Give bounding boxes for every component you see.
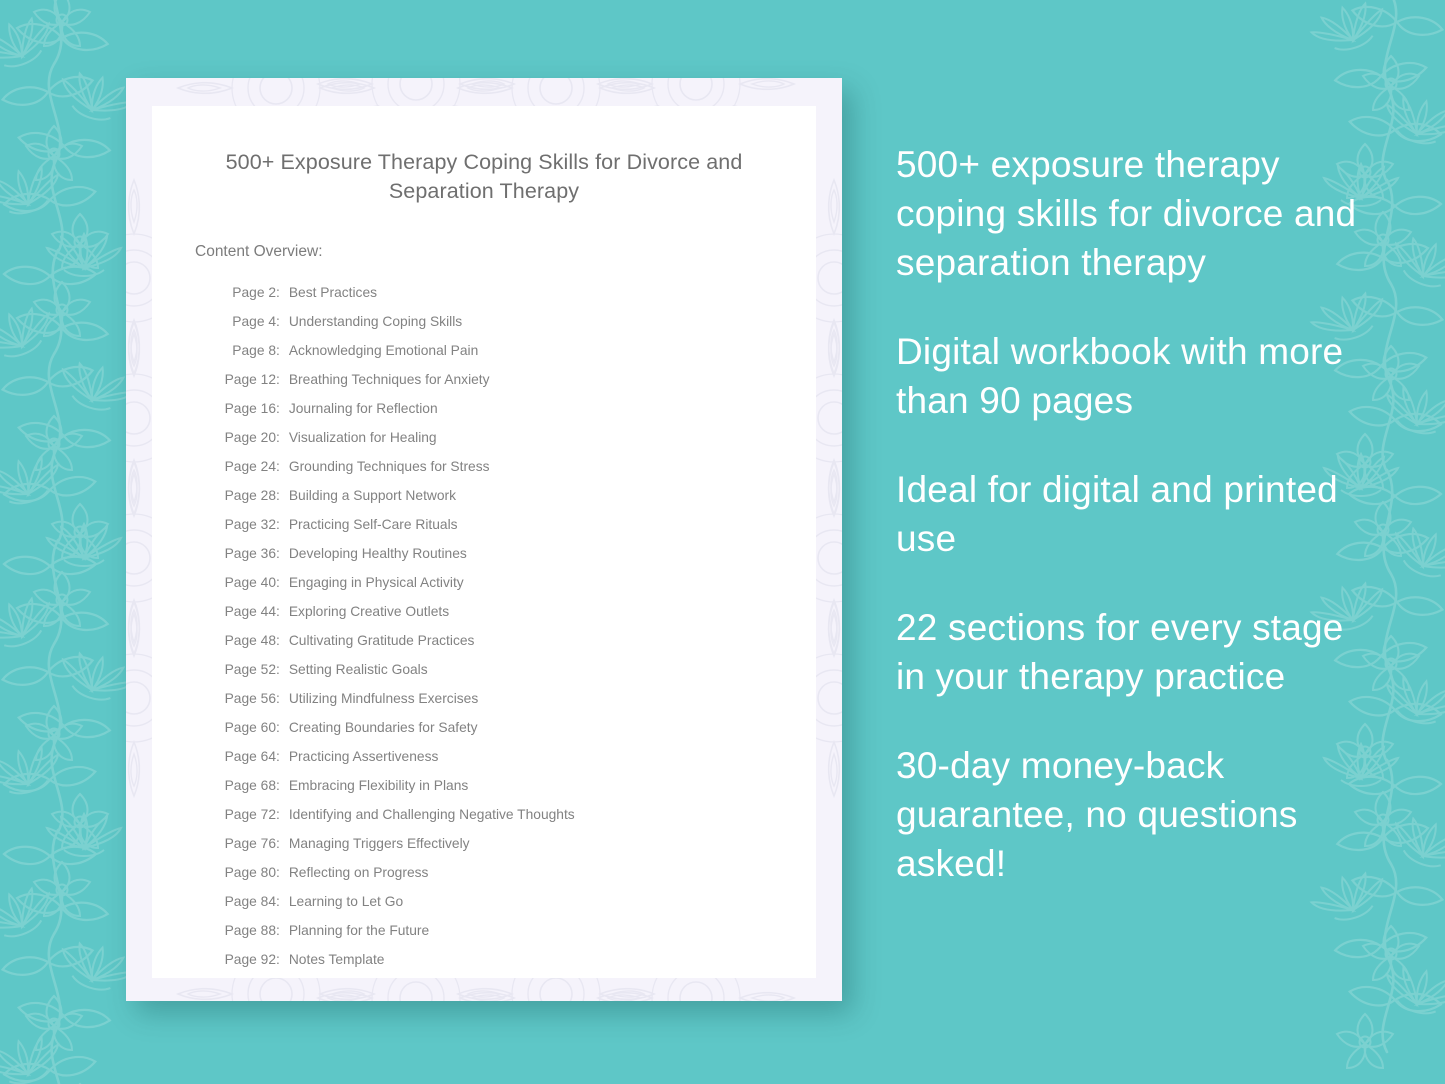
- toc-separator: :: [276, 771, 289, 800]
- toc-entry-title: Developing Healthy Routines: [289, 539, 467, 568]
- toc-row: Page 80:Reflecting on Progress: [218, 858, 786, 887]
- toc-page-number: Page 76: [218, 829, 276, 858]
- toc-entry-title: Identifying and Challenging Negative Tho…: [289, 800, 575, 829]
- floral-border-left: [0, 0, 138, 1084]
- toc-entry-title: Notes Template: [289, 945, 385, 974]
- toc-page-number: Page 2: [218, 278, 276, 307]
- toc-separator: :: [276, 916, 289, 945]
- toc-separator: :: [276, 800, 289, 829]
- toc-separator: :: [276, 510, 289, 539]
- toc-row: Page 28:Building a Support Network: [218, 481, 786, 510]
- toc-separator: :: [276, 278, 289, 307]
- toc-entry-title: Embracing Flexibility in Plans: [289, 771, 468, 800]
- toc-separator: :: [276, 423, 289, 452]
- toc-entry-title: Understanding Coping Skills: [289, 307, 462, 336]
- table-of-contents: Page 2:Best PracticesPage 4:Understandin…: [218, 278, 786, 974]
- toc-entry-title: Exploring Creative Outlets: [289, 597, 449, 626]
- toc-row: Page 76:Managing Triggers Effectively: [218, 829, 786, 858]
- toc-separator: :: [276, 568, 289, 597]
- toc-row: Page 16:Journaling for Reflection: [218, 394, 786, 423]
- toc-entry-title: Acknowledging Emotional Pain: [289, 336, 478, 365]
- toc-page-number: Page 16: [218, 394, 276, 423]
- toc-row: Page 84:Learning to Let Go: [218, 887, 786, 916]
- toc-entry-title: Utilizing Mindfulness Exercises: [289, 684, 478, 713]
- toc-page-number: Page 4: [218, 307, 276, 336]
- toc-page-number: Page 20: [218, 423, 276, 452]
- toc-entry-title: Engaging in Physical Activity: [289, 568, 464, 597]
- toc-page-number: Page 60: [218, 713, 276, 742]
- toc-row: Page 32:Practicing Self-Care Rituals: [218, 510, 786, 539]
- toc-entry-title: Planning for the Future: [289, 916, 429, 945]
- toc-entry-title: Learning to Let Go: [289, 887, 403, 916]
- toc-page-number: Page 8: [218, 336, 276, 365]
- marketing-block: 500+ exposure therapy coping skills for …: [896, 140, 1366, 287]
- toc-page-number: Page 40: [218, 568, 276, 597]
- toc-separator: :: [276, 481, 289, 510]
- toc-separator: :: [276, 365, 289, 394]
- toc-page-number: Page 24: [218, 452, 276, 481]
- toc-page-number: Page 44: [218, 597, 276, 626]
- toc-row: Page 2:Best Practices: [218, 278, 786, 307]
- toc-page-number: Page 64: [218, 742, 276, 771]
- content-overview-label: Content Overview:: [195, 243, 786, 261]
- toc-entry-title: Grounding Techniques for Stress: [289, 452, 490, 481]
- toc-separator: :: [276, 597, 289, 626]
- toc-page-number: Page 52: [218, 655, 276, 684]
- workbook-preview-card: 500+ Exposure Therapy Coping Skills for …: [126, 78, 842, 1001]
- toc-row: Page 52:Setting Realistic Goals: [218, 655, 786, 684]
- toc-separator: :: [276, 539, 289, 568]
- toc-separator: :: [276, 858, 289, 887]
- marketing-block: 22 sections for every stage in your ther…: [896, 603, 1366, 701]
- marketing-block: 30-day money-back guarantee, no question…: [896, 741, 1366, 888]
- toc-row: Page 60:Creating Boundaries for Safety: [218, 713, 786, 742]
- toc-page-number: Page 92: [218, 945, 276, 974]
- toc-separator: :: [276, 336, 289, 365]
- toc-page-number: Page 12: [218, 365, 276, 394]
- page-title: 500+ Exposure Therapy Coping Skills for …: [182, 148, 786, 206]
- toc-page-number: Page 72: [218, 800, 276, 829]
- marketing-copy: 500+ exposure therapy coping skills for …: [896, 140, 1366, 888]
- toc-entry-title: Setting Realistic Goals: [289, 655, 428, 684]
- toc-row: Page 40:Engaging in Physical Activity: [218, 568, 786, 597]
- toc-page-number: Page 36: [218, 539, 276, 568]
- toc-separator: :: [276, 713, 289, 742]
- toc-page-number: Page 28: [218, 481, 276, 510]
- workbook-page: 500+ Exposure Therapy Coping Skills for …: [152, 106, 816, 978]
- toc-separator: :: [276, 394, 289, 423]
- toc-entry-title: Journaling for Reflection: [289, 394, 438, 423]
- toc-entry-title: Practicing Self-Care Rituals: [289, 510, 458, 539]
- toc-row: Page 72:Identifying and Challenging Nega…: [218, 800, 786, 829]
- toc-row: Page 64:Practicing Assertiveness: [218, 742, 786, 771]
- toc-entry-title: Practicing Assertiveness: [289, 742, 439, 771]
- toc-row: Page 68:Embracing Flexibility in Plans: [218, 771, 786, 800]
- toc-row: Page 44:Exploring Creative Outlets: [218, 597, 786, 626]
- toc-page-number: Page 68: [218, 771, 276, 800]
- toc-page-number: Page 56: [218, 684, 276, 713]
- toc-row: Page 24:Grounding Techniques for Stress: [218, 452, 786, 481]
- toc-entry-title: Reflecting on Progress: [289, 858, 429, 887]
- toc-row: Page 20:Visualization for Healing: [218, 423, 786, 452]
- marketing-block: Ideal for digital and printed use: [896, 465, 1366, 563]
- toc-separator: :: [276, 684, 289, 713]
- toc-page-number: Page 88: [218, 916, 276, 945]
- toc-separator: :: [276, 742, 289, 771]
- marketing-block: Digital workbook with more than 90 pages: [896, 327, 1366, 425]
- toc-page-number: Page 80: [218, 858, 276, 887]
- toc-row: Page 36:Developing Healthy Routines: [218, 539, 786, 568]
- toc-row: Page 48:Cultivating Gratitude Practices: [218, 626, 786, 655]
- toc-page-number: Page 32: [218, 510, 276, 539]
- toc-page-number: Page 84: [218, 887, 276, 916]
- toc-row: Page 56:Utilizing Mindfulness Exercises: [218, 684, 786, 713]
- toc-entry-title: Cultivating Gratitude Practices: [289, 626, 475, 655]
- toc-separator: :: [276, 887, 289, 916]
- toc-row: Page 12:Breathing Techniques for Anxiety: [218, 365, 786, 394]
- toc-separator: :: [276, 452, 289, 481]
- toc-row: Page 4:Understanding Coping Skills: [218, 307, 786, 336]
- toc-entry-title: Best Practices: [289, 278, 377, 307]
- toc-entry-title: Breathing Techniques for Anxiety: [289, 365, 490, 394]
- toc-separator: :: [276, 626, 289, 655]
- toc-entry-title: Creating Boundaries for Safety: [289, 713, 478, 742]
- toc-entry-title: Visualization for Healing: [289, 423, 437, 452]
- toc-separator: :: [276, 307, 289, 336]
- toc-separator: :: [276, 829, 289, 858]
- toc-separator: :: [276, 655, 289, 684]
- toc-entry-title: Managing Triggers Effectively: [289, 829, 470, 858]
- toc-page-number: Page 48: [218, 626, 276, 655]
- toc-entry-title: Building a Support Network: [289, 481, 456, 510]
- toc-row: Page 92:Notes Template: [218, 945, 786, 974]
- toc-row: Page 88:Planning for the Future: [218, 916, 786, 945]
- toc-row: Page 8:Acknowledging Emotional Pain: [218, 336, 786, 365]
- toc-separator: :: [276, 945, 289, 974]
